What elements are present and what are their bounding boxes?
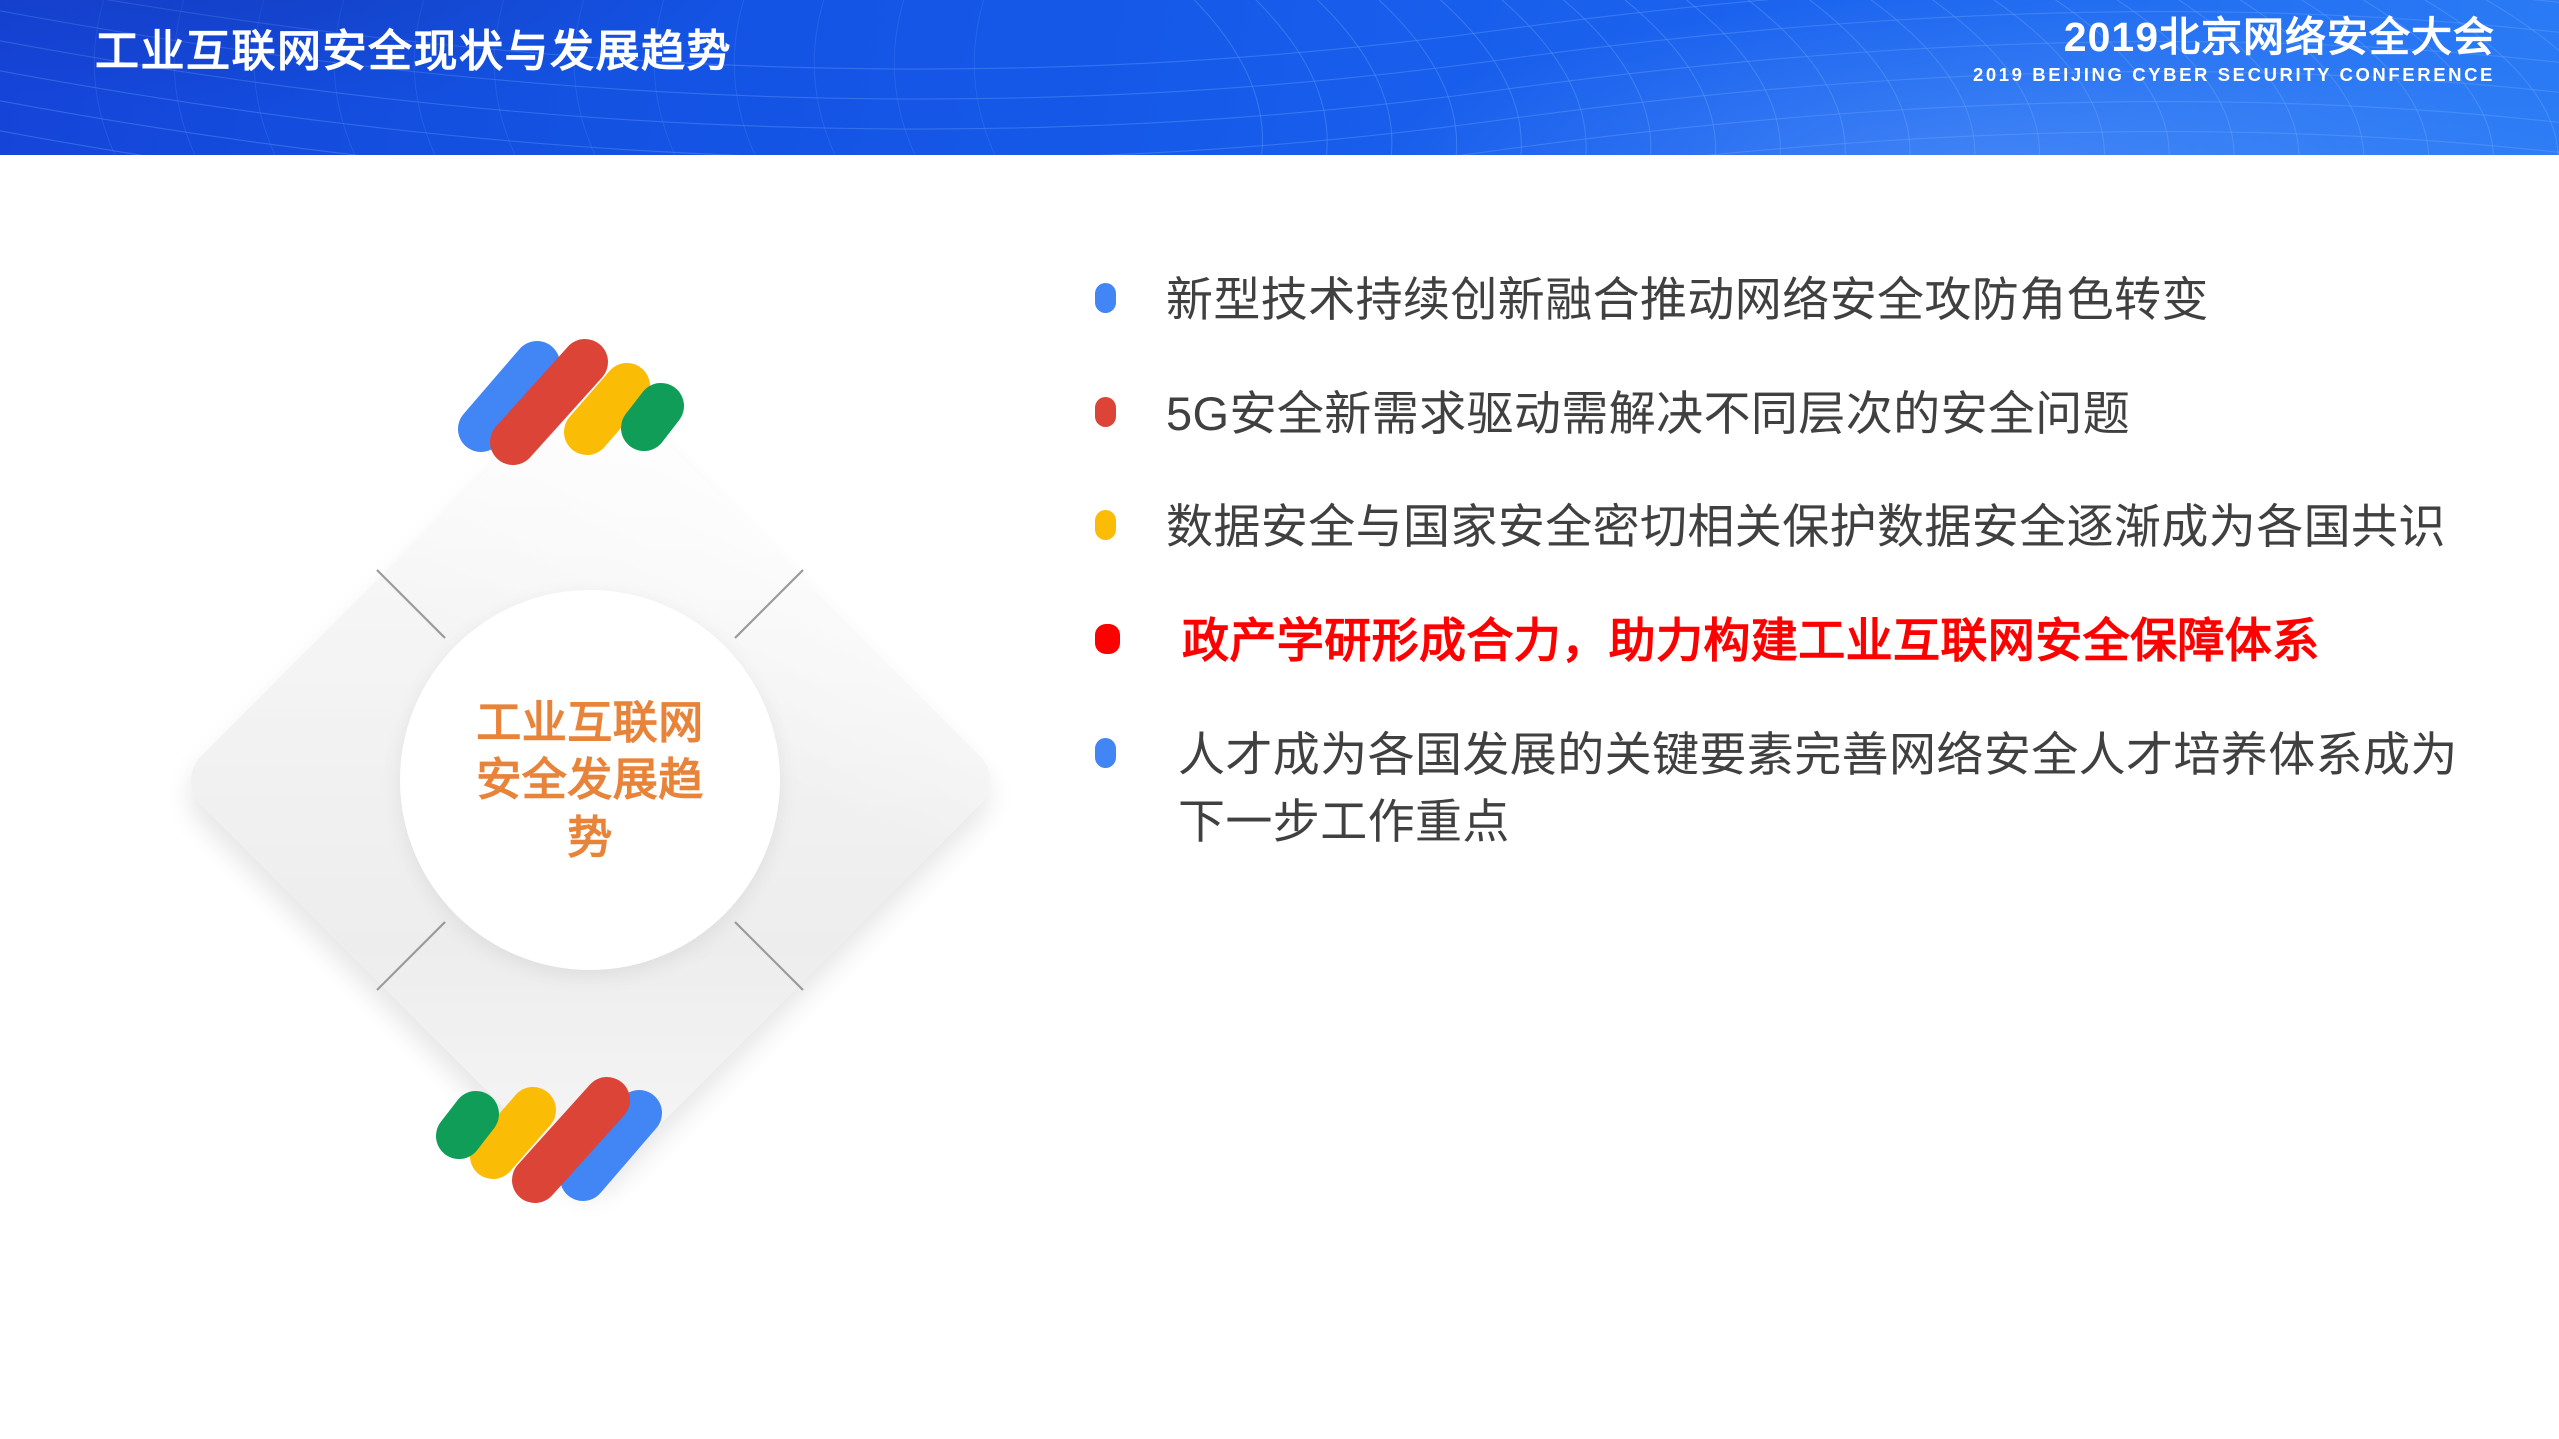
center-circle: 工业互联网安全发展趋势 <box>400 590 780 970</box>
bullet-text: 5G安全新需求驱动需解决不同层次的安全问题 <box>1116 380 2485 448</box>
conference-name-en: 2019 BEIJING CYBER SECURITY CONFERENCE <box>1973 64 2495 86</box>
conference-name-cn: 2019北京网络安全大会 <box>1973 16 2495 59</box>
bullet-text: 数据安全与国家安全密切相关保护数据安全逐渐成为各国共识 <box>1116 493 2485 561</box>
ribbon-logo-bottom-icon <box>425 1068 675 1218</box>
conference-logo: 2019北京网络安全大会 2019 BEIJING CYBER SECURITY… <box>1973 16 2495 86</box>
slide-header: 工业互联网安全现状与发展趋势 2019北京网络安全大会 2019 BEIJING… <box>0 0 2559 155</box>
bullet-text: 政产学研形成合力，助力构建工业互联网安全保障体系 <box>1120 607 2485 675</box>
bullet-dot-icon <box>1095 397 1116 427</box>
list-item: 人才成为各国发展的关键要素完善网络安全人才培养体系成为下一步工作重点 <box>1095 721 2485 856</box>
bullet-dot-icon <box>1095 510 1116 540</box>
bullet-text: 人才成为各国发展的关键要素完善网络安全人才培养体系成为下一步工作重点 <box>1116 721 2485 856</box>
bullet-dot-icon <box>1095 738 1116 768</box>
list-item: 数据安全与国家安全密切相关保护数据安全逐渐成为各国共识 <box>1095 493 2485 561</box>
trend-bullet-list: 新型技术持续创新融合推动网络安全攻防角色转变 5G安全新需求驱动需解决不同层次的… <box>1095 266 2485 902</box>
list-item: 新型技术持续创新融合推动网络安全攻防角色转变 <box>1095 266 2485 334</box>
ribbon-logo-top-icon <box>445 324 695 474</box>
bullet-dot-icon <box>1095 283 1116 313</box>
center-circle-label: 工业互联网安全发展趋势 <box>454 694 726 865</box>
list-item-highlighted: 政产学研形成合力，助力构建工业互联网安全保障体系 <box>1095 607 2485 675</box>
page-title: 工业互联网安全现状与发展趋势 <box>95 26 732 79</box>
bullet-dot-icon <box>1095 624 1120 654</box>
bullet-text: 新型技术持续创新融合推动网络安全攻防角色转变 <box>1116 266 2485 334</box>
list-item: 5G安全新需求驱动需解决不同层次的安全问题 <box>1095 380 2485 448</box>
trend-diamond-diagram: 工业互联网安全发展趋势 <box>155 300 1025 1260</box>
